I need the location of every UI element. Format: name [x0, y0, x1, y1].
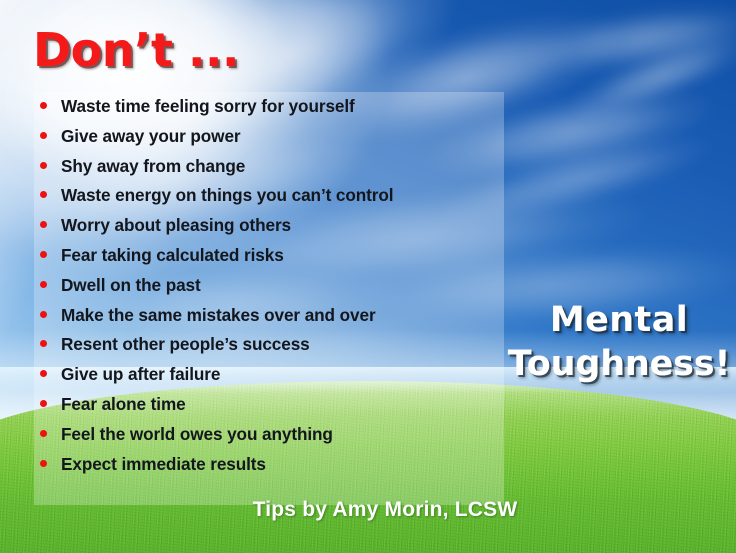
bullet-dot-icon — [40, 311, 47, 318]
list-item: Waste time feeling sorry for yourself — [40, 96, 510, 126]
list-item-label: Resent other people’s success — [61, 334, 310, 355]
bullet-dot-icon — [40, 370, 47, 377]
bullet-dot-icon — [40, 191, 47, 198]
bullet-dot-icon — [40, 221, 47, 228]
list-item-label: Fear taking calculated risks — [61, 245, 284, 266]
list-item: Fear taking calculated risks — [40, 245, 510, 275]
list-item: Feel the world owes you anything — [40, 424, 510, 454]
list-item-label: Waste energy on things you can’t control — [61, 185, 393, 206]
page-title: Don’t ... — [33, 23, 239, 77]
bullet-dot-icon — [40, 132, 47, 139]
bullet-dot-icon — [40, 281, 47, 288]
list-item-label: Waste time feeling sorry for yourself — [61, 96, 355, 117]
callout-line-1: Mental — [505, 298, 733, 342]
list-item-label: Give away your power — [61, 126, 241, 147]
list-item: Waste energy on things you can’t control — [40, 185, 510, 215]
list-item-label: Worry about pleasing others — [61, 215, 291, 236]
list-item: Fear alone time — [40, 394, 510, 424]
list-item: Resent other people’s success — [40, 334, 510, 364]
attribution-text: Tips by Amy Morin, LCSW — [0, 498, 736, 522]
bullet-dot-icon — [40, 340, 47, 347]
list-item-label: Dwell on the past — [61, 275, 201, 296]
bullet-dot-icon — [40, 162, 47, 169]
list-item-label: Shy away from change — [61, 156, 245, 177]
bullet-dot-icon — [40, 102, 47, 109]
dont-list: Waste time feeling sorry for yourself Gi… — [40, 96, 510, 483]
slide-canvas: Don’t ... Waste time feeling sorry for y… — [0, 0, 736, 553]
list-item: Make the same mistakes over and over — [40, 305, 510, 335]
list-item: Worry about pleasing others — [40, 215, 510, 245]
list-item: Shy away from change — [40, 156, 510, 186]
list-item-label: Fear alone time — [61, 394, 186, 415]
bullet-dot-icon — [40, 400, 47, 407]
list-item-label: Expect immediate results — [61, 454, 266, 475]
list-item: Give away your power — [40, 126, 510, 156]
bullet-dot-icon — [40, 430, 47, 437]
list-item-label: Give up after failure — [61, 364, 220, 385]
mental-toughness-callout: Mental Toughness! — [505, 298, 733, 386]
list-item-label: Make the same mistakes over and over — [61, 305, 376, 326]
list-item-label: Feel the world owes you anything — [61, 424, 333, 445]
list-item: Expect immediate results — [40, 454, 510, 484]
list-item: Give up after failure — [40, 364, 510, 394]
callout-line-2: Toughness! — [505, 342, 733, 386]
list-item: Dwell on the past — [40, 275, 510, 305]
bullet-dot-icon — [40, 460, 47, 467]
bullet-dot-icon — [40, 251, 47, 258]
